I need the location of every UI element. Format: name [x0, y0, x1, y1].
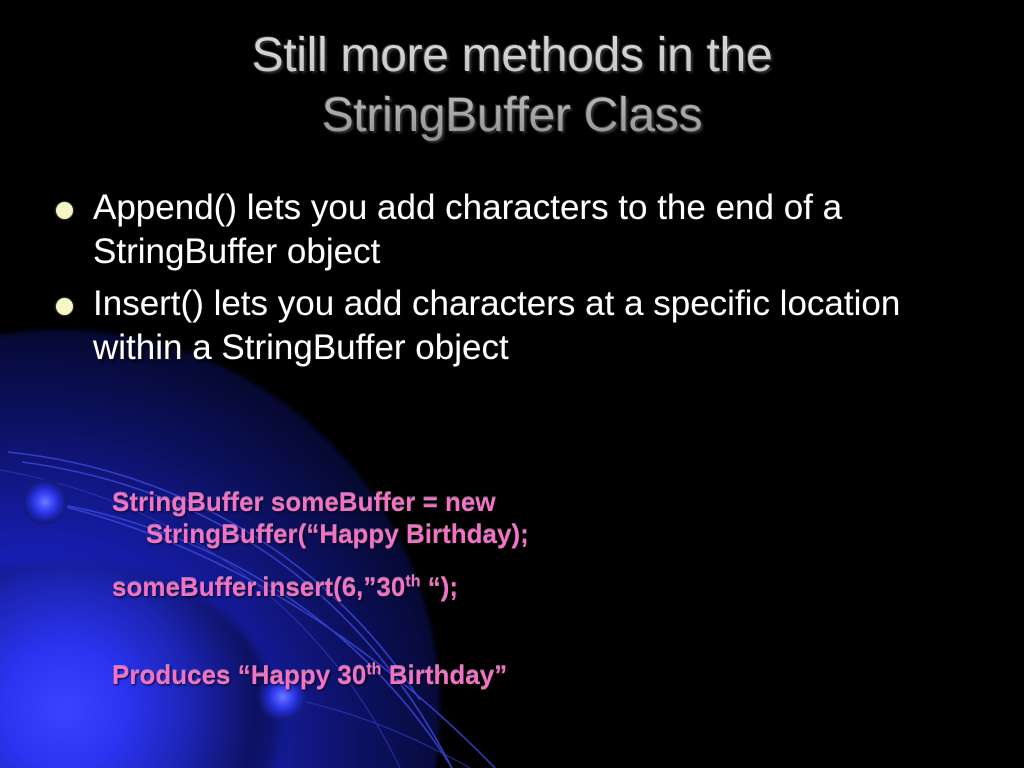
code-line-declaration: StringBuffer someBuffer = new: [112, 487, 902, 519]
code-spacer-large: [112, 604, 902, 660]
bullet-item-label: Append() lets you add characters to the …: [93, 186, 928, 274]
bullet-marker-icon: [56, 202, 73, 219]
code-insert-suffix: “);: [421, 572, 459, 602]
list-item: Append() lets you add characters to the …: [56, 186, 966, 274]
code-output-suffix: Birthday”: [382, 660, 508, 690]
bullet-list: Append() lets you add characters to the …: [56, 186, 966, 378]
slide-canvas: Still more methods in the StringBuffer C…: [0, 0, 1024, 768]
code-example-block: StringBuffer someBuffer = new StringBuff…: [112, 487, 902, 692]
glow-node-upper: [22, 479, 68, 525]
code-output-prefix: Produces “Happy 30: [112, 660, 366, 690]
code-output-superscript: th: [366, 661, 381, 679]
code-insert-superscript: th: [405, 573, 420, 591]
code-insert-prefix: someBuffer.insert(6,”30: [112, 572, 405, 602]
code-spacer: [112, 550, 902, 572]
code-line-insert-call: someBuffer.insert(6,”30th “);: [112, 572, 902, 604]
slide-title: Still more methods in the StringBuffer C…: [62, 26, 962, 145]
slide-title-line-1: Still more methods in the: [62, 26, 962, 86]
code-line-declaration-continued: StringBuffer(“Happy Birthday);: [112, 519, 902, 551]
bullet-marker-icon: [56, 298, 73, 315]
slide-title-line-2: StringBuffer Class: [62, 86, 962, 146]
code-line-output: Produces “Happy 30th Birthday”: [112, 660, 902, 692]
bullet-item-label: Insert() lets you add characters at a sp…: [93, 282, 928, 370]
list-item: Insert() lets you add characters at a sp…: [56, 282, 966, 370]
